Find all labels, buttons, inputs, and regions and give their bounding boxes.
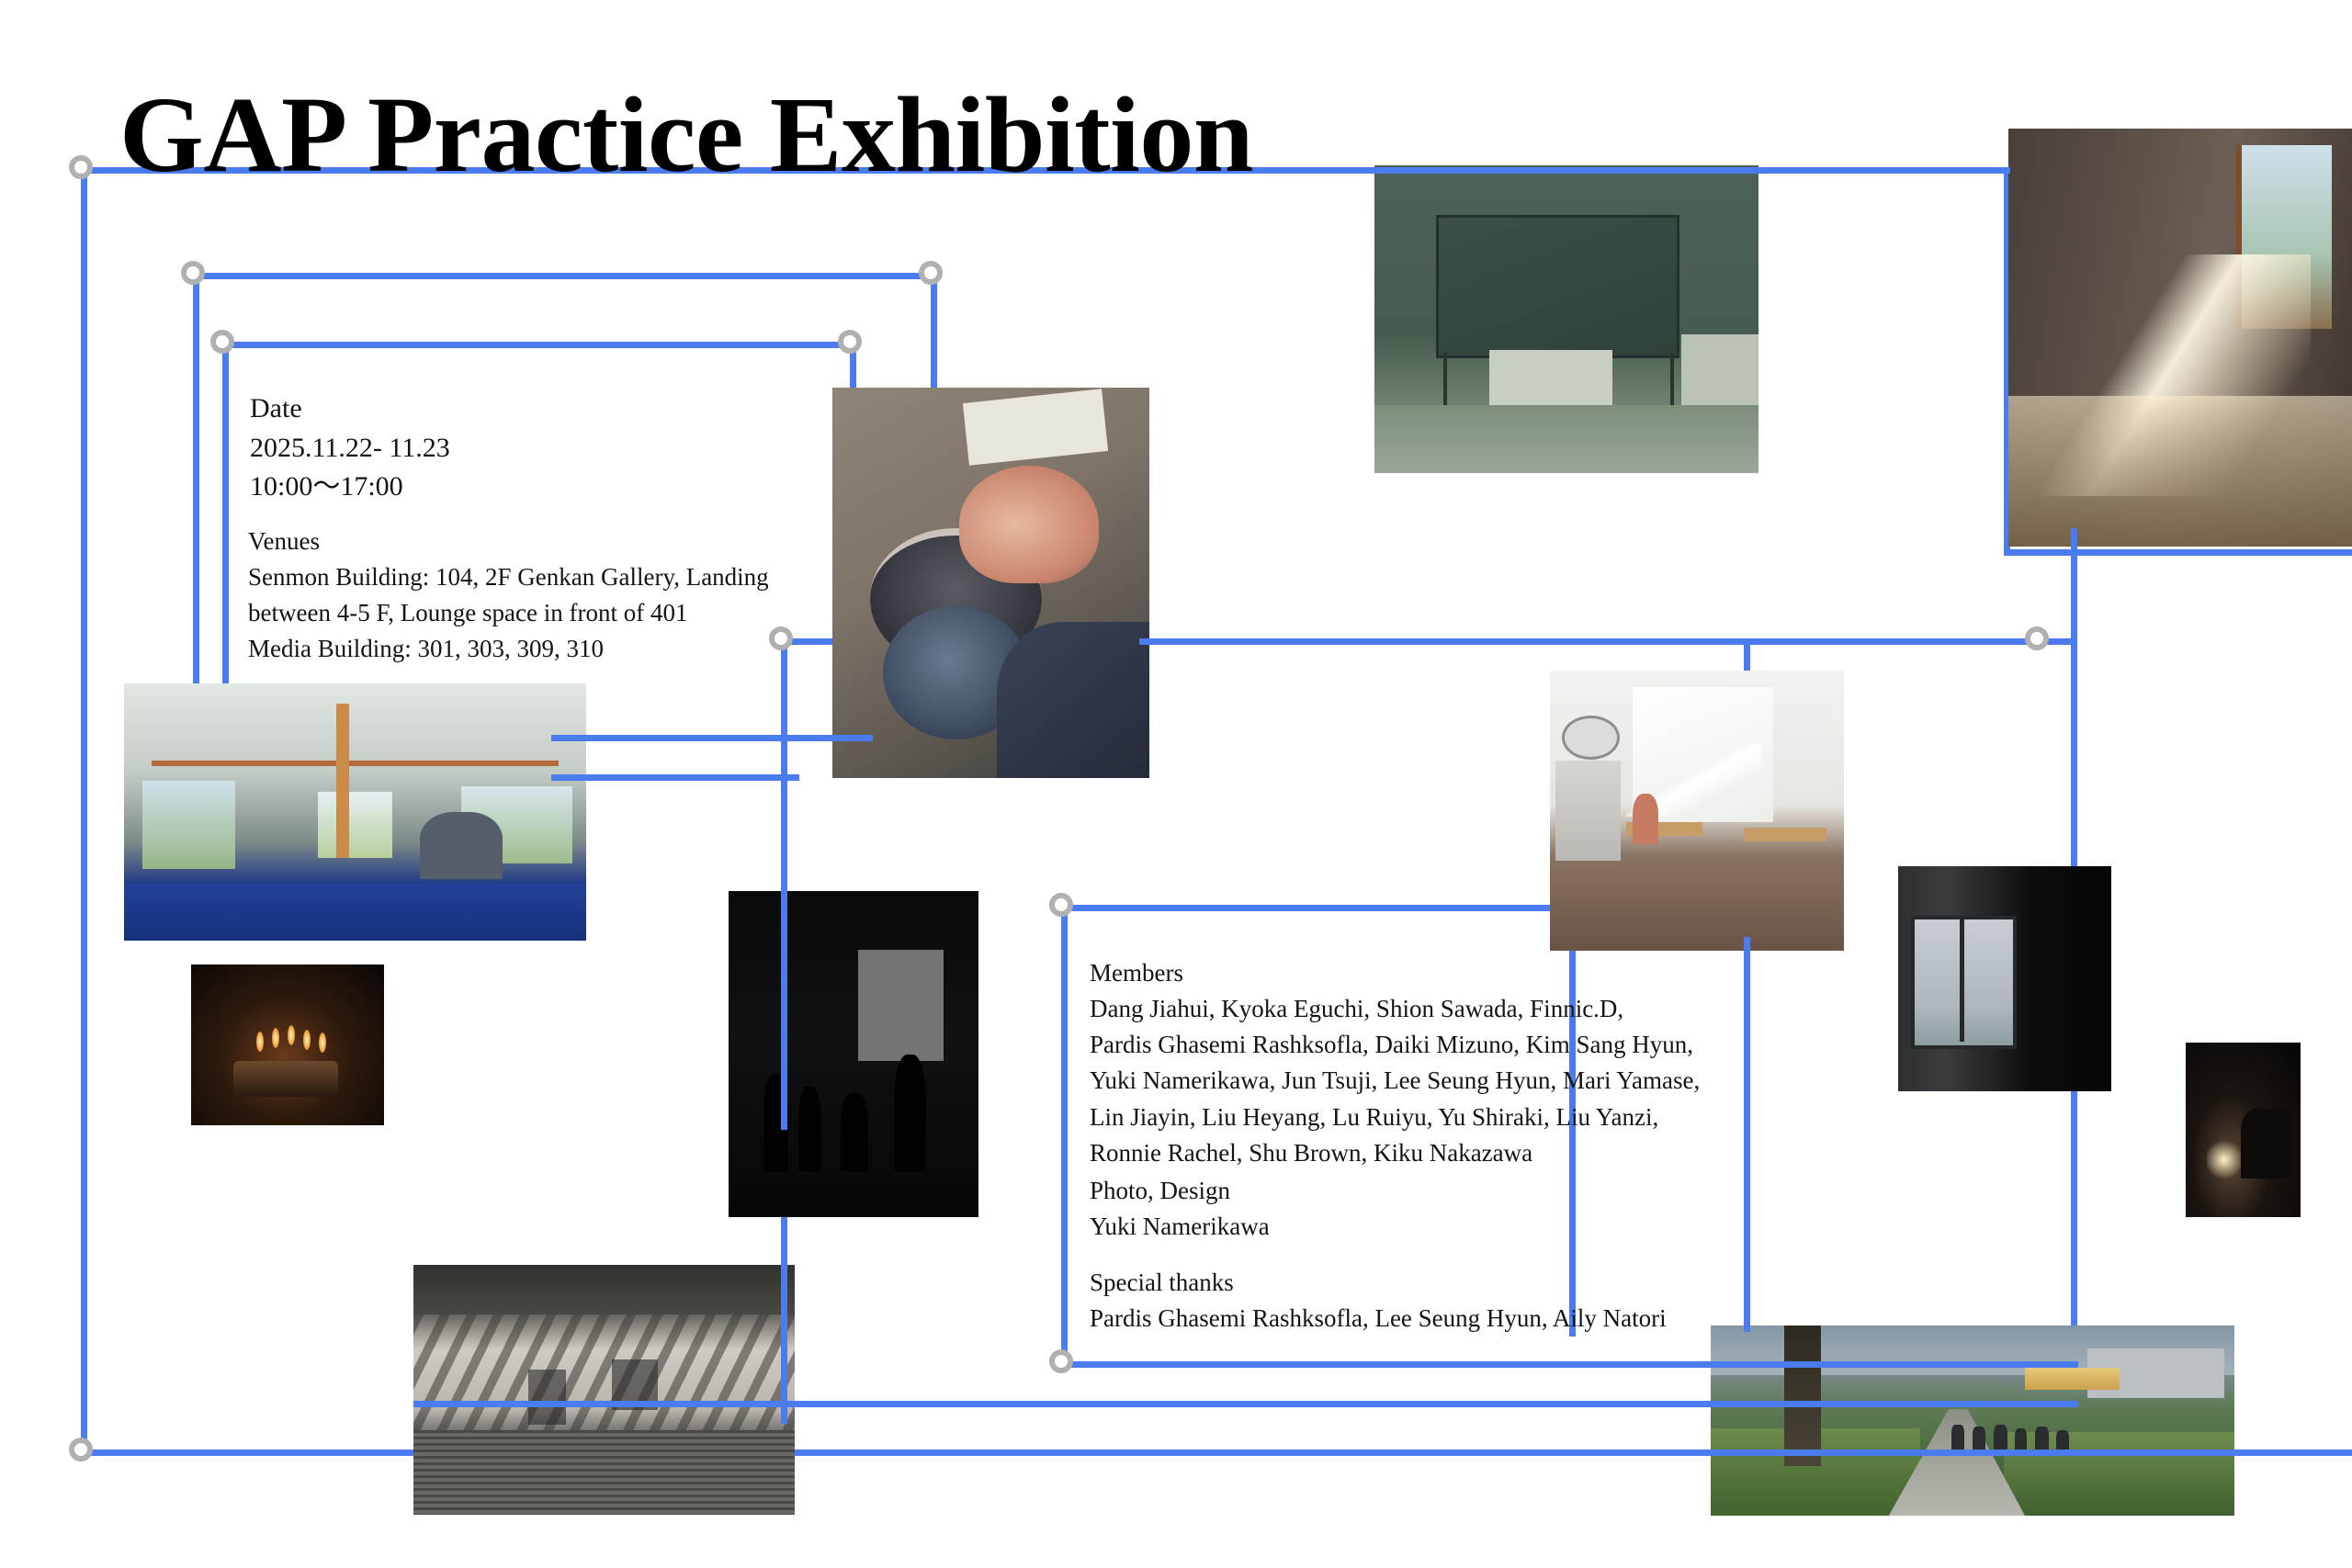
wire-bottomleft-stub [81,1450,191,1456]
wire-over-studio [1744,937,1750,1332]
node-nest2-left [210,330,234,354]
photo-concrete-terrace [413,1265,795,1515]
wire-nest1-left [193,273,199,714]
photo-birthday-candles [191,964,384,1125]
node-members-corner [1049,893,1073,917]
members-line-2: Pardis Ghasemi Rashksofla, Daiki Mizuno,… [1090,1027,1700,1063]
photo-campus-path [1711,1325,2234,1516]
wire-nest2-left [222,342,229,714]
wire-over-pottery [1139,638,2076,645]
node-right-branch [2025,626,2049,650]
wire-members-top [1061,905,1576,911]
wire-nest2-top [222,342,856,348]
node-bottom-left [69,1438,93,1461]
node-members-bottom [1049,1349,1073,1373]
node-top-left [69,155,93,179]
members-line-1: Dang Jiahui, Kyoka Eguchi, Shion Sawada,… [1090,991,1700,1027]
members-block: Members Dang Jiahui, Kyoka Eguchi, Shion… [1090,955,1700,1171]
members-line-4: Lin Jiayin, Liu Heyang, Lu Ruiyu, Yu Shi… [1090,1100,1700,1135]
wire-members-left [1061,905,1068,1364]
photo-pottery-wheel [832,388,1149,778]
thanks-heading: Special thanks [1090,1265,1667,1301]
photo-sunlit-corridor [2008,129,2352,547]
thanks-names: Pardis Ghasemi Rashksofla, Lee Seung Hyu… [1090,1301,1667,1337]
wire-nest1-top [193,273,937,279]
credits-heading: Photo, Design [1090,1173,1270,1209]
photo-classroom-whiteboard [1374,165,1758,473]
date-block: Date 2025.11.22- 11.23 10:00〜17:00 [250,389,450,507]
venues-line-2: between 4-5 F, Lounge space in front of … [248,595,769,631]
date-heading: Date [250,389,450,429]
credits-name: Yuki Namerikawa [1090,1209,1270,1245]
venues-line-3: Media Building: 301, 303, 309, 310 [248,631,769,667]
wire-over-terrace [413,1401,795,1407]
wire-outer-left [81,170,87,1456]
wire-over-bus-b [551,774,799,781]
wire-nest1-right [931,273,937,392]
wire-topright-stub [2004,549,2352,556]
photo-bus-interior [124,683,586,941]
date-hours: 10:00〜17:00 [250,468,450,507]
node-nest1-right [919,261,943,285]
wire-over-classroom [1374,167,2010,174]
venues-line-1: Senmon Building: 104, 2F Genkan Gallery,… [248,559,769,595]
venues-block: Venues Senmon Building: 104, 2F Genkan G… [248,524,769,668]
wire-over-path-b [1711,1401,2078,1407]
photo-dark-gallery [729,891,978,1217]
wire-over-path-bottom [1711,1450,2352,1456]
photo-dark-window [1898,866,2111,1091]
members-line-5: Ronnie Rachel, Shu Brown, Kiku Nakazawa [1090,1135,1700,1171]
venues-heading: Venues [248,524,769,559]
members-heading: Members [1090,955,1700,991]
thanks-block: Special thanks Pardis Ghasemi Rashksofla… [1090,1265,1667,1337]
photo-dark-projector [2186,1043,2301,1217]
exhibition-poster: GAP Practice Exhibition Date 2025.11.22-… [0,0,2352,1568]
members-line-3: Yuki Namerikawa, Jun Tsuji, Lee Seung Hy… [1090,1063,1700,1099]
node-nest2-right [838,330,862,354]
wire-over-corridor [2071,528,2077,643]
credits-block: Photo, Design Yuki Namerikawa [1090,1173,1270,1245]
photo-studio-workshop [1550,671,1844,951]
wire-over-path-a [1711,1361,2078,1368]
wire-over-terrace-v [781,1240,787,1424]
wire-over-bus-a [551,735,873,741]
page-title: GAP Practice Exhibition [119,81,1253,189]
date-range: 2025.11.22- 11.23 [250,429,450,468]
node-nest1-left [181,261,205,285]
node-pottery-corner [769,626,793,650]
wire-over-darkroom [781,891,787,1130]
